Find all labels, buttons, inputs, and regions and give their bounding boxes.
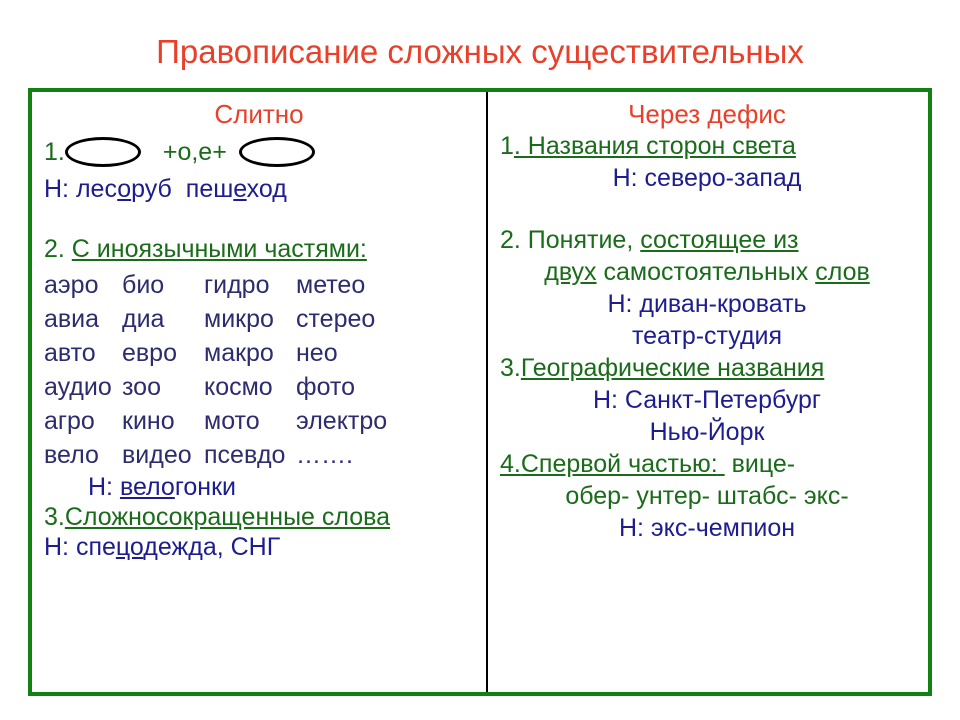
d-rule-3-heading: 3.Географические названия — [486, 352, 928, 384]
rule-2-number: 2. — [44, 235, 72, 263]
d-rule-1-number: 1 — [500, 132, 514, 160]
ellipse-root-left — [65, 137, 141, 167]
d-rule-1-heading: 1. Названия сторон света — [486, 130, 928, 162]
word-cell: вело — [44, 438, 122, 472]
d-rule-4-heading: 4.Спервой частью: вице- — [486, 448, 928, 480]
word-cell: био — [122, 268, 204, 302]
spacer — [32, 204, 486, 234]
d-rule-3-example-2: Нью-Йорк — [486, 416, 928, 448]
column-header-defis: Через дефис — [486, 92, 928, 130]
d-rule-2-plain-2: самостоятельных — [597, 258, 816, 286]
example-velogonki-rest: гонки — [175, 473, 236, 501]
word-cell: аэро — [44, 268, 122, 302]
d-rule-4-tail: вице- — [732, 450, 796, 478]
word-cell: псевдо — [204, 438, 296, 472]
d-rule-2-example-2: театр-студия — [486, 320, 928, 352]
rule-3-example: Н: спецодежда, СНГ — [32, 532, 486, 562]
d-rule-2-underlined-slov: слов — [815, 258, 870, 286]
word-cell: мото — [204, 404, 296, 438]
word-cell: авиа — [44, 302, 122, 336]
ellipse-root-right — [239, 137, 315, 167]
word-cell: видео — [122, 438, 204, 472]
table-columns: Слитно 1. +о,е+ Н: лесоруб пешеход 2. С … — [32, 92, 928, 692]
word-cell: зоо — [122, 370, 204, 404]
word-cell: ……. — [296, 438, 486, 472]
d-rule-2-line-1: 2. Понятие, состоящее из — [486, 224, 928, 256]
d-rule-3-text: Географические названия — [521, 354, 824, 382]
example-word-lesorub-b: руб — [131, 175, 172, 203]
example-specodezhda-underlined: цо — [116, 533, 143, 561]
example-word-peshehod-a: пеш — [186, 175, 234, 203]
word-cell: микро — [204, 302, 296, 336]
rules-table: Слитно 1. +о,е+ Н: лесоруб пешеход 2. С … — [28, 88, 932, 696]
d-rule-2-example-1: Н: диван-кровать — [486, 288, 928, 320]
rule-3-number: 3. — [44, 503, 65, 531]
example-prefix: Н: спе — [44, 533, 116, 561]
example-prefix: Н: — [88, 473, 120, 501]
d-rule-1-text: . Названия сторон света — [514, 132, 796, 160]
word-cell: аудио — [44, 370, 122, 404]
column-slitno: Слитно 1. +о,е+ Н: лесоруб пешеход 2. С … — [32, 92, 486, 692]
example-word-lesorub-a: лес — [76, 175, 117, 203]
word-cell: агро — [44, 404, 122, 438]
page-title: Правописание сложных существительных — [0, 0, 960, 72]
word-cell: авто — [44, 336, 122, 370]
word-cell: метео — [296, 268, 486, 302]
example-velogonki-underlined: вело — [120, 473, 175, 501]
d-rule-4-example: Н: экс-чемпион — [486, 512, 928, 544]
foreign-prefix-grid: аэро био гидро метео авиа диа микро стер… — [32, 268, 486, 472]
column-defis: Через дефис 1. Названия сторон света Н: … — [486, 92, 928, 692]
word-cell: электро — [296, 404, 486, 438]
rule-3-text: Сложносокращенные слова — [65, 503, 390, 531]
d-rule-2-underlined-dvuh: двух — [544, 258, 596, 286]
d-rule-2-line-2: двух самостоятельных слов — [486, 256, 928, 288]
rule-3-heading: 3.Сложносокращенные слова — [32, 502, 486, 532]
rule-2-heading: 2. С иноязычными частями: — [32, 234, 486, 264]
word-cell: макро — [204, 336, 296, 370]
word-cell: гидро — [204, 268, 296, 302]
slide-page: Правописание сложных существительных Сли… — [0, 0, 960, 720]
example-word-peshehod-b: ход — [247, 175, 287, 203]
word-cell: стерео — [296, 302, 486, 336]
example-specodezhda-rest: дежда, СНГ — [143, 533, 280, 561]
rule-1-number: 1. — [44, 140, 65, 165]
rule-2-text: С иноязычными частями: — [72, 235, 367, 263]
column-header-slitno: Слитно — [32, 92, 486, 130]
example-prefix: Н: — [44, 175, 76, 203]
word-cell: фото — [296, 370, 486, 404]
d-rule-4-number-text: 4.Спервой частью: — [500, 450, 725, 478]
word-cell: евро — [122, 336, 204, 370]
d-rule-1-example: Н: северо-запад — [486, 162, 928, 194]
d-rule-4-number: 4. — [500, 450, 521, 478]
word-cell: нео — [296, 336, 486, 370]
d-rule-2-plain-1: 2. Понятие, — [500, 226, 640, 254]
example-word-peshehod-vowel: е — [233, 175, 246, 203]
d-rule-4-line-2: обер- унтер- штабс- экс- — [486, 480, 928, 512]
rule-1-examples: Н: лесоруб пешеход — [32, 174, 486, 204]
spacer — [486, 194, 928, 224]
d-rule-4-text: Спервой частью: — [521, 450, 718, 478]
example-word-lesorub-vowel: о — [117, 175, 131, 203]
d-rule-2-underlined-1: состоящее из — [640, 226, 798, 254]
word-cell: космо — [204, 370, 296, 404]
word-cell: кино — [122, 404, 204, 438]
word-cell: диа — [122, 302, 204, 336]
d-rule-3-number: 3. — [500, 354, 521, 382]
rule-1-connector: +о,е+ — [141, 140, 239, 165]
d-rule-3-example-1: Н: Санкт-Петербург — [486, 384, 928, 416]
rule-2-example: Н: велогонки — [32, 472, 486, 502]
rule-1-formula: 1. +о,е+ — [32, 132, 486, 172]
